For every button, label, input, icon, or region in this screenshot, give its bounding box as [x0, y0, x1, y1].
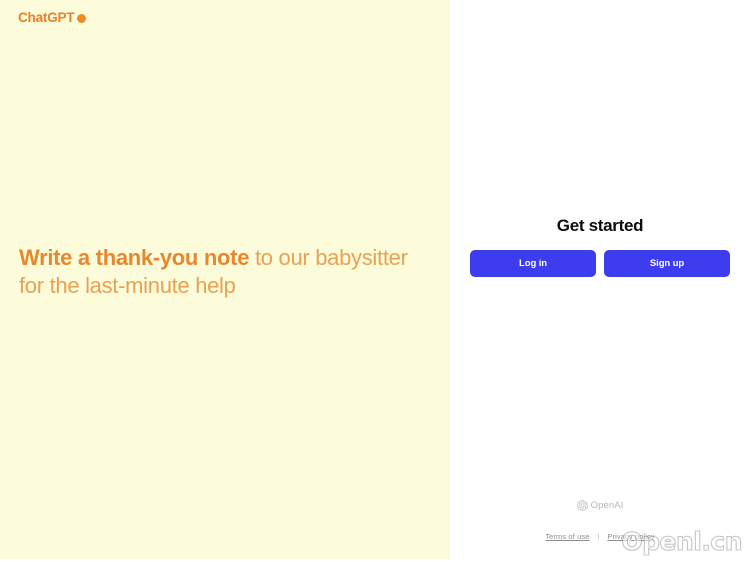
chatgpt-brand-logo[interactable]: ChatGPT: [18, 11, 86, 25]
privacy-policy-link[interactable]: Privacy policy: [607, 532, 654, 541]
brand-name-label: ChatGPT: [18, 11, 74, 25]
footer-links: Terms of use | Privacy policy: [450, 532, 750, 541]
openai-logo-icon: [577, 500, 588, 511]
auth-buttons-row: Log in Sign up: [450, 250, 750, 277]
terms-of-use-link[interactable]: Terms of use: [545, 532, 589, 541]
page-title: Get started: [450, 215, 750, 237]
promo-panel: ChatGPT Write a thank-you note to our ba…: [0, 0, 450, 559]
openai-brand-mark: OpenAI: [577, 500, 624, 511]
promo-headline: Write a thank-you note to our babysitter…: [19, 244, 419, 300]
auth-panel: Get started Log in Sign up OpenAI Terms …: [450, 0, 750, 562]
footer-separator: |: [597, 532, 599, 541]
openai-label: OpenAI: [591, 501, 624, 511]
footer: OpenAI Terms of use | Privacy policy: [450, 498, 750, 541]
orange-dot-icon: [77, 14, 86, 23]
auth-block: Get started Log in Sign up: [450, 215, 750, 277]
signup-button[interactable]: Sign up: [604, 250, 730, 277]
chatgpt-welcome-page: ChatGPT Write a thank-you note to our ba…: [0, 0, 750, 562]
login-button[interactable]: Log in: [470, 250, 596, 277]
promo-headline-strong: Write a thank-you note: [19, 245, 249, 270]
